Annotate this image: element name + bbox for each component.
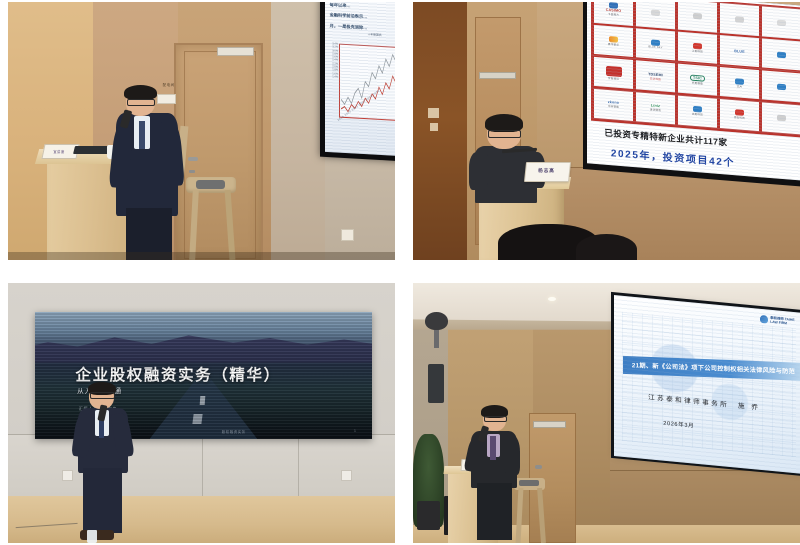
- wall-sign: [428, 108, 440, 118]
- wall-sign-secondary: [430, 123, 438, 131]
- speaker-tie: [490, 436, 495, 459]
- lectern-name-card-text: 宣讲席: [45, 149, 73, 154]
- screen-scanline-overlay: [614, 295, 800, 474]
- door-handle: [188, 157, 198, 161]
- speaker-glasses: [90, 392, 114, 399]
- wall-seam: [298, 434, 299, 496]
- projection-screen: CASIMO 卡西莫方 康华银点: [587, 2, 800, 181]
- speaker-legs: [477, 483, 512, 540]
- dome-camera-icon: [425, 312, 448, 330]
- stage-floor: [8, 496, 395, 543]
- door-handle: [535, 465, 542, 469]
- wall-outlet: [62, 470, 73, 481]
- speaker-legs: [83, 468, 122, 533]
- photo-top-left[interactable]: 配电间 每年以来… 金融科学前沿表示… 月，一是极克消除… 十年期国债 3.4%…: [8, 2, 395, 260]
- speaker-hair: [124, 85, 157, 100]
- door-lock: [189, 170, 195, 173]
- audience-head-foreground: [576, 234, 638, 260]
- door-closer: [217, 47, 254, 56]
- plant-pot: [417, 501, 440, 530]
- photo-bottom-right[interactable]: 泰和律师 TAIHE LAW FIRM 21期、新《公司法》项下公司控制权相关法…: [413, 283, 800, 543]
- wall-outlet: [341, 470, 352, 481]
- photo-top-right[interactable]: CASIMO 卡西莫方 康华银点: [413, 2, 800, 260]
- door-closer: [479, 72, 516, 79]
- screen-scanline-overlay: [325, 2, 395, 156]
- display-screen: 每年以来… 金融科学前沿表示… 月，一是极克消除… 十年期国债 3.4%3.2%…: [325, 2, 395, 156]
- door-closer: [533, 421, 566, 428]
- wall-dark-left: [413, 2, 467, 260]
- projection-screen: 泰和律师 TAIHE LAW FIRM 21期、新《公司法》项下公司控制权相关法…: [614, 295, 800, 474]
- speaker-arm-left: [469, 152, 488, 191]
- wall-panel: [271, 2, 325, 260]
- wall-seam: [202, 434, 203, 496]
- speaker-glasses: [127, 99, 155, 106]
- stool-cushion: [519, 480, 538, 487]
- photo-bottom-left[interactable]: 企业股权融资实务（精华） 从入门到精通 汇报人：股权实务 股权融资实务 1: [8, 283, 395, 543]
- wall-speaker: [428, 364, 443, 403]
- speaker-arm-right: [504, 436, 520, 475]
- stool-cushion: [196, 180, 225, 189]
- name-plate-text: 杨志高: [531, 168, 562, 176]
- floor-shadow: [8, 252, 395, 260]
- door-sign-plate: [157, 94, 176, 104]
- speaker-glasses: [488, 130, 521, 138]
- photo-collage: 配电间 每年以来… 金融科学前沿表示… 月，一是极克消除… 十年期国债 3.4%…: [0, 0, 800, 545]
- speaker-glasses: [484, 416, 507, 423]
- water-bottle: [87, 530, 97, 543]
- laptop: [73, 146, 110, 154]
- speaker-tie: [139, 121, 145, 149]
- wall-switch: [341, 229, 354, 241]
- screen-scanline-overlay: [587, 2, 800, 181]
